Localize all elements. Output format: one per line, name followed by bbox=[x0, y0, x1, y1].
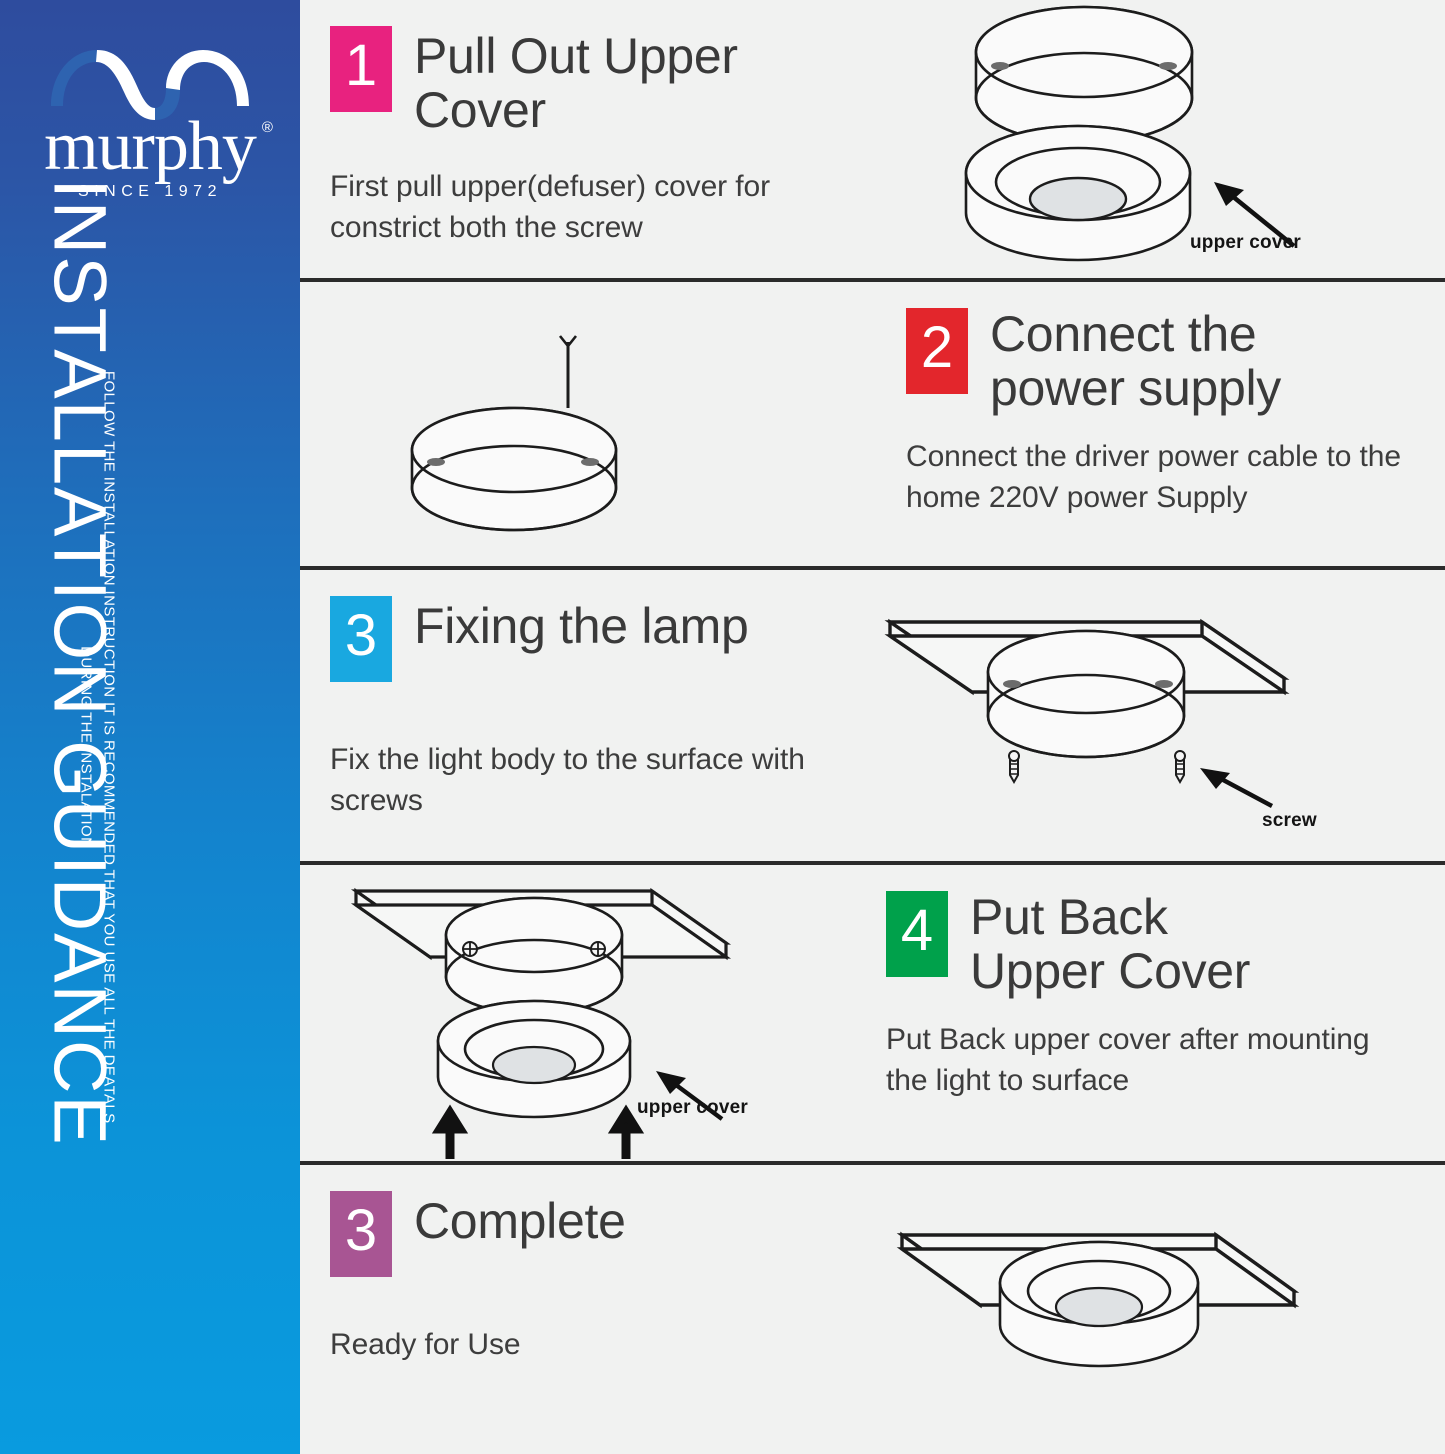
step-4-description: Put Back upper cover after mounting the … bbox=[886, 1020, 1415, 1101]
step-2-description: Connect the driver power cable to the ho… bbox=[906, 437, 1415, 518]
step-4-callout-upper-cover: upper cover bbox=[637, 1097, 748, 1119]
step-4-heading: 4 Put Back Upper Cover bbox=[886, 891, 1415, 998]
steps-column: 1 Pull Out Upper Cover First pull upper(… bbox=[300, 0, 1445, 1454]
completed-lamp-icon bbox=[890, 1191, 1360, 1441]
screw-head-right-icon bbox=[591, 942, 605, 956]
step-2-title: Connect the power supply bbox=[990, 308, 1281, 415]
step-4-text: 4 Put Back Upper Cover Put Back upper co… bbox=[870, 865, 1445, 1161]
step-3-description: Fix the light body to the surface with s… bbox=[330, 740, 860, 821]
step-5-title: Complete bbox=[414, 1191, 626, 1249]
step-row-2: 2 Connect the power supply Connect the d… bbox=[300, 282, 1445, 570]
sidebar-vertical-text: INSTALLATION GUIDANCE FOLLOW THE INSTALL… bbox=[0, 0, 300, 1454]
step-2-title-line-1: Connect the bbox=[990, 308, 1281, 362]
lamp-mounted-with-screws-icon bbox=[880, 594, 1350, 839]
step-3-callout-screw: screw bbox=[1262, 810, 1317, 832]
step-5-description: Ready for Use bbox=[330, 1325, 870, 1366]
step-1-title: Pull Out Upper Cover bbox=[414, 26, 870, 137]
step-3-heading: 3 Fixing the lamp bbox=[330, 596, 860, 682]
push-up-arrow-left-icon bbox=[440, 1113, 460, 1159]
step-4-title-line-2: Upper Cover bbox=[970, 945, 1250, 999]
step-5-badge: 3 bbox=[330, 1191, 392, 1277]
screw-left-icon bbox=[1009, 751, 1019, 782]
step-2-title-line-2: power supply bbox=[990, 362, 1281, 416]
step-4-title: Put Back Upper Cover bbox=[970, 891, 1250, 998]
step-2-illustration bbox=[300, 282, 890, 566]
step-2-badge: 2 bbox=[906, 308, 968, 394]
brand-sidebar: murphy® SINCE 1972 INSTALLATION GUIDANCE… bbox=[0, 0, 300, 1454]
step-row-4: upper cover 4 Put Back Upper Cover Put B… bbox=[300, 865, 1445, 1165]
step-row-5: 3 Complete Ready for Use bbox=[300, 1165, 1445, 1454]
screw-head-left-icon bbox=[463, 942, 477, 956]
step-1-badge: 1 bbox=[330, 26, 392, 112]
installation-guidance-page: murphy® SINCE 1972 INSTALLATION GUIDANCE… bbox=[0, 0, 1445, 1454]
push-up-arrow-right-icon bbox=[616, 1113, 636, 1159]
step-5-illustration bbox=[900, 1165, 1445, 1454]
step-5-text: 3 Complete Ready for Use bbox=[300, 1165, 900, 1454]
step-1-description: First pull upper(defuser) cover for cons… bbox=[330, 167, 870, 248]
step-3-badge: 3 bbox=[330, 596, 392, 682]
hanging-lamp-wire-icon bbox=[400, 298, 820, 556]
step-3-title: Fixing the lamp bbox=[414, 596, 749, 654]
screw-right-icon bbox=[1175, 751, 1185, 782]
step-3-text: 3 Fixing the lamp Fix the light body to … bbox=[300, 570, 890, 861]
step-4-badge: 4 bbox=[886, 891, 948, 977]
step-4-title-line-1: Put Back bbox=[970, 891, 1250, 945]
step-3-illustration: screw bbox=[890, 570, 1445, 861]
sidebar-subtitle: FOLLOW THE INSTALLATION INSTRUCTION IT I… bbox=[74, 367, 121, 1127]
replace-upper-cover-icon bbox=[330, 873, 840, 1163]
step-row-3: 3 Fixing the lamp Fix the light body to … bbox=[300, 570, 1445, 865]
step-1-text: 1 Pull Out Upper Cover First pull upper(… bbox=[300, 0, 900, 278]
step-row-1: 1 Pull Out Upper Cover First pull upper(… bbox=[300, 0, 1445, 282]
step-4-illustration: upper cover bbox=[300, 865, 870, 1161]
step-1-heading: 1 Pull Out Upper Cover bbox=[330, 26, 870, 137]
step-1-illustration: upper cover bbox=[900, 0, 1445, 278]
step-2-heading: 2 Connect the power supply bbox=[906, 308, 1415, 415]
step-1-callout-upper-cover: upper cover bbox=[1190, 232, 1301, 254]
step-2-text: 2 Connect the power supply Connect the d… bbox=[890, 282, 1445, 566]
step-5-heading: 3 Complete bbox=[330, 1191, 870, 1277]
